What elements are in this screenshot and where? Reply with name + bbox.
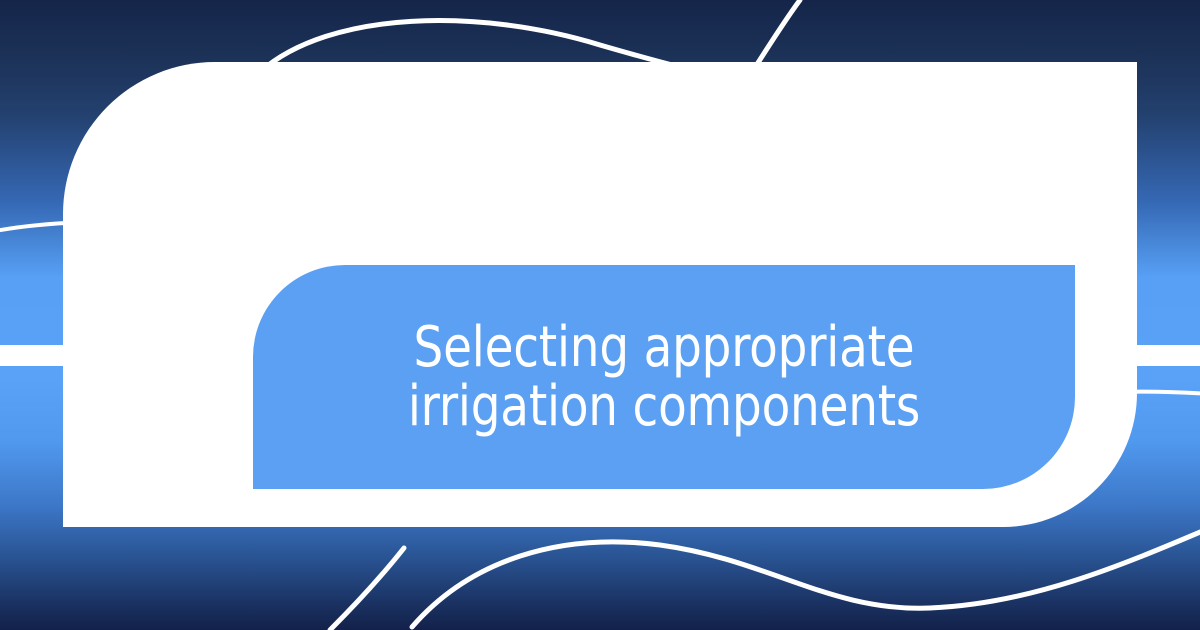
- bottom-left-tail-line: [330, 548, 404, 630]
- share-card-canvas: Selecting appropriate irrigation compone…: [0, 0, 1200, 630]
- bottom-s-curve: [412, 530, 1200, 627]
- page-title: Selecting appropriate irrigation compone…: [319, 318, 1009, 437]
- content-card: Selecting appropriate irrigation compone…: [63, 62, 1137, 527]
- title-plate: Selecting appropriate irrigation compone…: [253, 265, 1075, 489]
